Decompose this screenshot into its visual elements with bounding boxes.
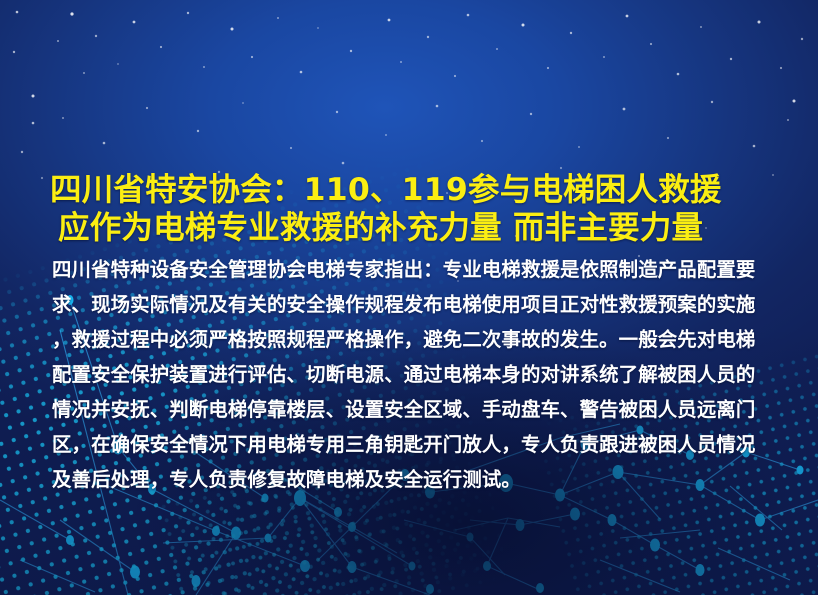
headline-line-1: 四川省特安协会：110、119参与电梯困人救援 [50,171,780,209]
body-copy: 四川省特种设备安全管理协会电梯专家指出：专业电梯救援是依照制造产品配置要 求、现… [52,252,774,497]
body-line-5: 情况并安抚、判断电梯停靠楼层、设置安全区域、手动盘车、警告被困人员远离门 [52,392,774,427]
poster-content: 四川省特安协会：110、119参与电梯困人救援 应作为电梯专业救援的补充力量 而… [0,0,818,595]
body-line-6: 区，在确保安全情况下用电梯专用三角钥匙开门放人，专人负责跟进被困人员情况 [52,427,774,462]
body-line-1: 四川省特种设备安全管理协会电梯专家指出：专业电梯救援是依照制造产品配置要 [52,252,774,287]
body-line-3: ，救援过程中必须严格按照规程严格操作，避免二次事故的发生。一般会先对电梯 [52,322,774,357]
body-line-2: 求、现场实际情况及有关的安全操作规程发布电梯使用项目正对性救援预案的实施 [52,287,774,322]
headline: 四川省特安协会：110、119参与电梯困人救援 应作为电梯专业救援的补充力量 而… [50,171,780,247]
headline-line-2: 应作为电梯专业救援的补充力量 而非主要力量 [50,209,780,247]
body-line-4: 配置安全保护装置进行评估、切断电源、通过电梯本身的对讲系统了解被困人员的 [52,357,774,392]
body-line-7: 及善后处理，专人负责修复故障电梯及安全运行测试。 [52,462,774,497]
poster-canvas: 四川省特安协会：110、119参与电梯困人救援 应作为电梯专业救援的补充力量 而… [0,0,818,595]
